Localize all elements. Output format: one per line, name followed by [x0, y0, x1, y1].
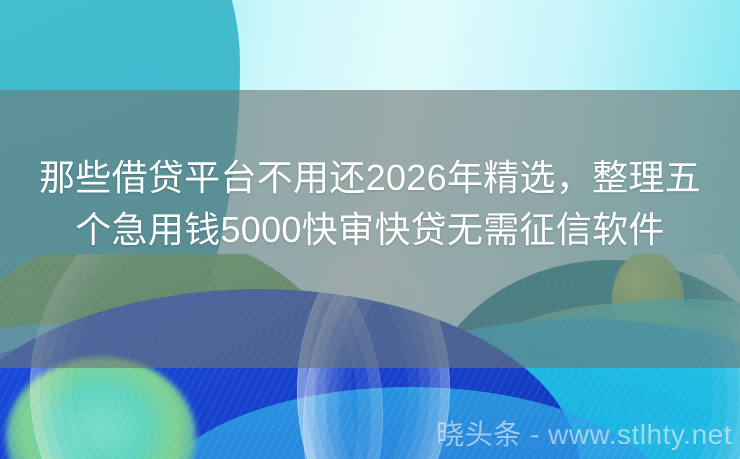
page-title: 那些借贷平台不用还2026年精选，整理五个急用钱5000快审快贷无需征信软件 — [0, 152, 740, 256]
site-watermark: 晓头条 - www.stlhty.net — [436, 421, 732, 449]
article-thumbnail-banner: 那些借贷平台不用还2026年精选，整理五个急用钱5000快审快贷无需征信软件 晓… — [0, 0, 740, 459]
